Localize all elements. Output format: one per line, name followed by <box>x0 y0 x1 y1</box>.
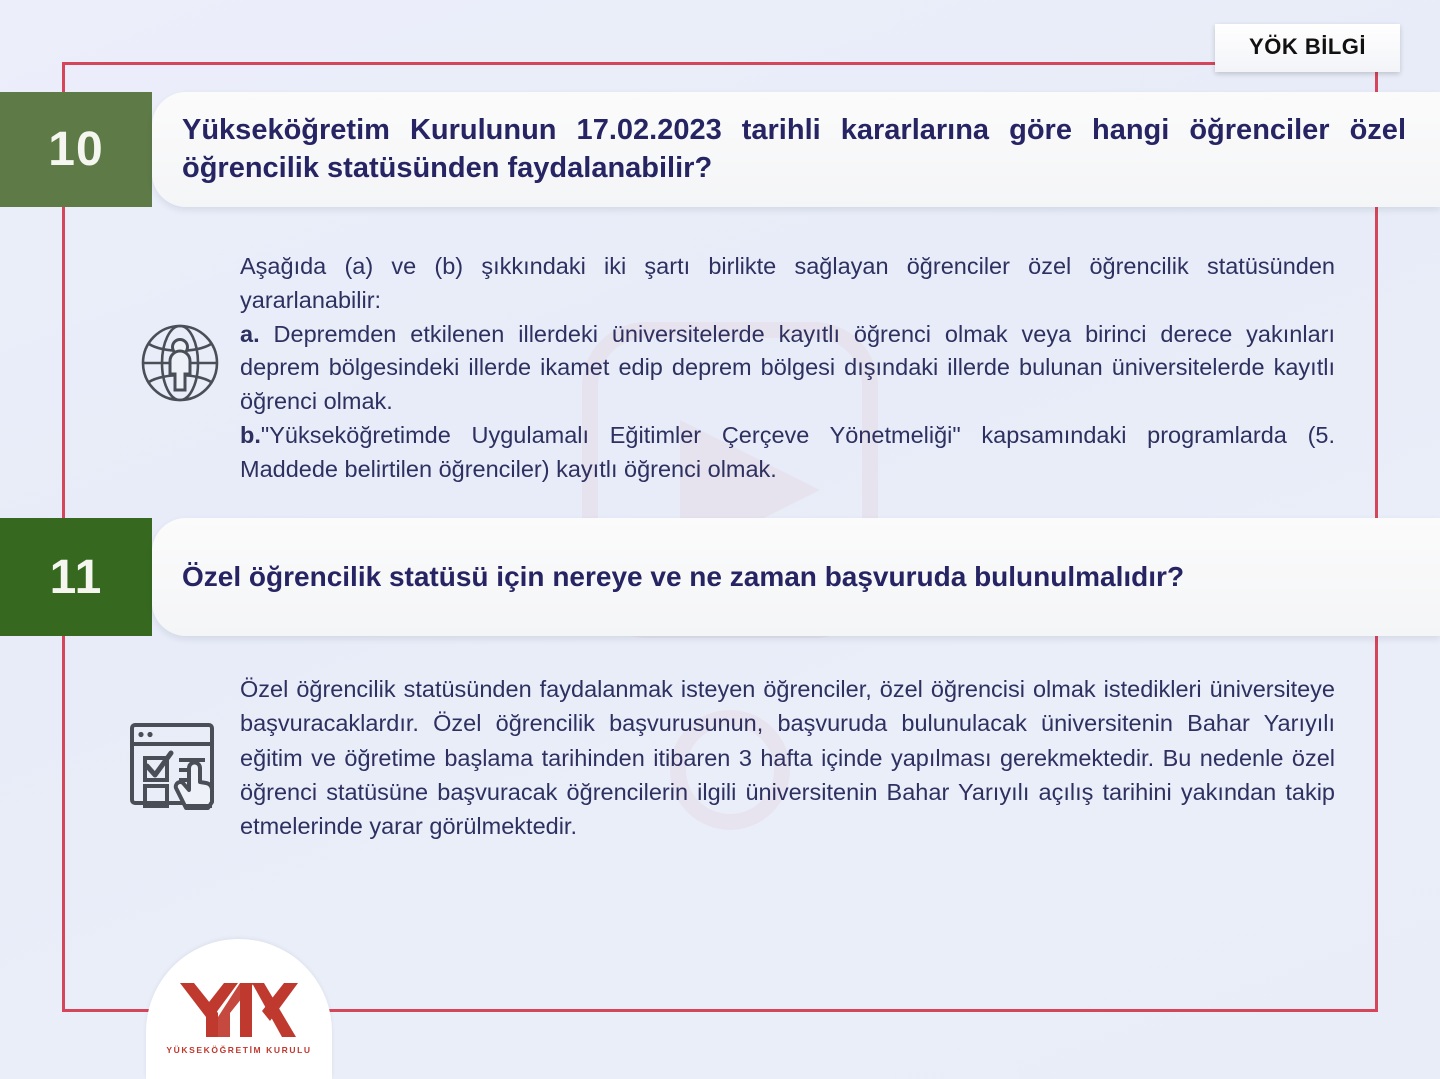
answer-block-10: Aşağıda (a) ve (b) şıkkındaki iki şartı … <box>120 250 1335 487</box>
slide-root: YÖK BİLGİ 10 Yükseköğretim Kurulunun 17.… <box>0 0 1440 1079</box>
answer-paragraph: Aşağıda (a) ve (b) şıkkındaki iki şartı … <box>240 250 1335 318</box>
answer-paragraph: a. Depremden etkilenen illerdeki ünivers… <box>240 318 1335 419</box>
question-title-11: Özel öğrencilik statüsü için nereye ve n… <box>182 557 1184 597</box>
answer-paragraph: b."Yükseköğretimde Uygulamalı Eğitimler … <box>240 419 1335 487</box>
question-header-10: 10 Yükseköğretim Kurulunun 17.02.2023 ta… <box>0 92 1440 207</box>
yok-logo-icon <box>178 979 300 1041</box>
yok-bilgi-tag: YÖK BİLGİ <box>1215 24 1400 72</box>
question-number-10: 10 <box>48 122 103 177</box>
question-header-11: 11 Özel öğrencilik statüsü için nereye v… <box>0 518 1440 636</box>
yok-logo-text: YÜKSEKÖĞRETİM KURULU <box>166 1045 311 1055</box>
answer-text-11: Özel öğrencilik statüsünden faydalanmak … <box>240 672 1335 843</box>
question-number-11: 11 <box>50 550 103 605</box>
globe-person-icon <box>120 250 240 406</box>
question-number-badge-10: 10 <box>0 92 152 207</box>
online-form-click-icon <box>110 672 240 812</box>
question-panel-11: Özel öğrencilik statüsü için nereye ve n… <box>152 518 1440 636</box>
answer-block-11: Özel öğrencilik statüsünden faydalanmak … <box>110 672 1335 843</box>
answer-paragraph: Özel öğrencilik statüsünden faydalanmak … <box>240 672 1335 843</box>
yok-bilgi-label: YÖK BİLGİ <box>1249 34 1366 59</box>
answer-text-10: Aşağıda (a) ve (b) şıkkındaki iki şartı … <box>240 250 1335 487</box>
question-number-badge-11: 11 <box>0 518 152 636</box>
question-title-10: Yükseköğretim Kurulunun 17.02.2023 tarih… <box>182 112 1406 186</box>
question-panel-10: Yükseköğretim Kurulunun 17.02.2023 tarih… <box>152 92 1440 207</box>
